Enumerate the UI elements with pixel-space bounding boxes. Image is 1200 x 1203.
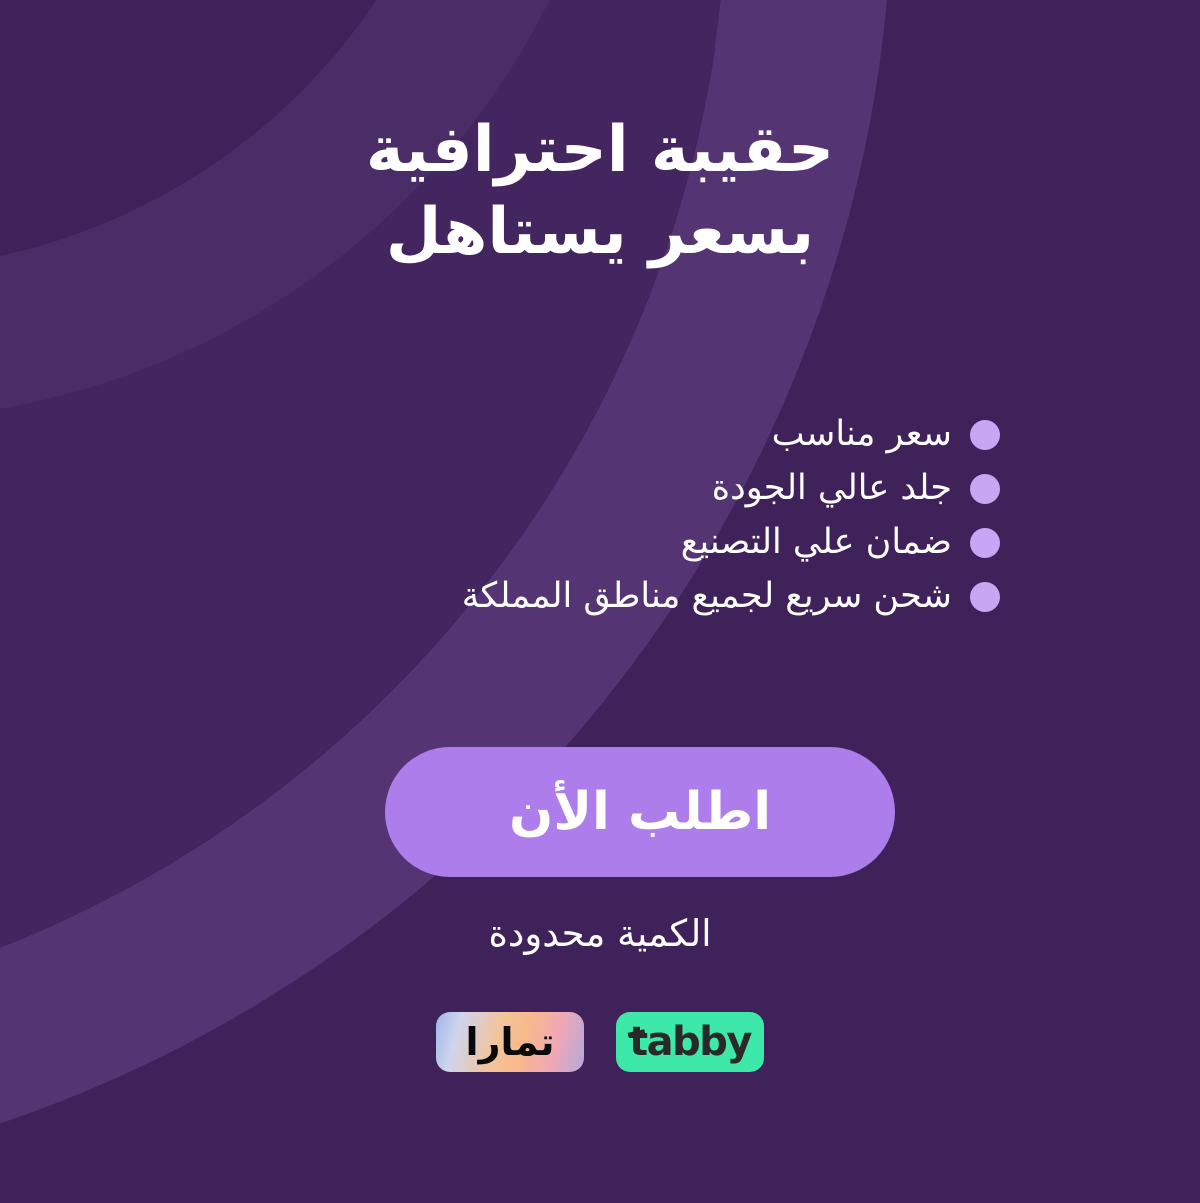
headline-line-1: حقيبة احترافية: [0, 110, 1200, 192]
bullet-dot-icon: [970, 420, 1000, 450]
list-item: شحن سريع لجميع مناطق المملكة: [60, 574, 1140, 619]
page-title: حقيبة احترافية بسعر يستاهل: [0, 110, 1200, 274]
list-item: جلد عالي الجودة: [60, 466, 1140, 511]
tabby-logo-label: tabby: [629, 1019, 751, 1065]
promo-banner: حقيبة احترافية بسعر يستاهل سعر مناسب جلد…: [0, 0, 1200, 1203]
payment-methods: tabby تمارا: [0, 1012, 1200, 1072]
feature-label: شحن سريع لجميع مناطق المملكة: [462, 579, 952, 614]
order-now-button[interactable]: اطلب الأن: [385, 747, 895, 877]
tamara-logo-label: تمارا: [466, 1020, 555, 1064]
feature-label: سعر مناسب: [772, 417, 952, 452]
list-item: ضمان علي التصنيع: [60, 520, 1140, 565]
feature-label: جلد عالي الجودة: [712, 471, 952, 506]
bullet-dot-icon: [970, 474, 1000, 504]
bullet-dot-icon: [970, 582, 1000, 612]
limited-quantity-note: الكمية محدودة: [0, 912, 1200, 955]
headline-line-2: بسعر يستاهل: [0, 192, 1200, 274]
tabby-logo[interactable]: tabby: [616, 1012, 764, 1072]
list-item: سعر مناسب: [60, 412, 1140, 457]
bullet-dot-icon: [970, 528, 1000, 558]
tamara-logo[interactable]: تمارا: [436, 1012, 584, 1072]
feature-list: سعر مناسب جلد عالي الجودة ضمان علي التصن…: [60, 412, 1140, 628]
feature-label: ضمان علي التصنيع: [681, 525, 952, 560]
